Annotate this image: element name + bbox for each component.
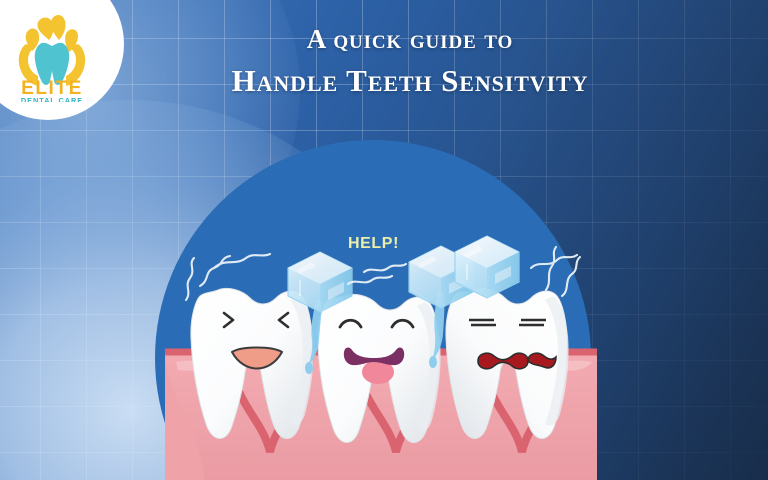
title-line-2: Handle Teeth Sensitvity: [150, 61, 670, 101]
help-label: HELP!: [348, 235, 399, 253]
squiggle-center-group: [348, 264, 406, 284]
squiggle-right-group: [531, 247, 580, 296]
title-line-1: A quick guide to: [150, 22, 670, 57]
page-title: A quick guide to Handle Teeth Sensitvity: [150, 22, 670, 101]
logo-tagline: DENTAL CARE: [21, 96, 83, 102]
hands-holding-tooth-icon: [19, 15, 85, 86]
logo[interactable]: ELITE DENTAL CARE: [8, 10, 96, 102]
poster-canvas: HELP! ELITE DENTAL CARE A quick guide to: [0, 0, 768, 480]
